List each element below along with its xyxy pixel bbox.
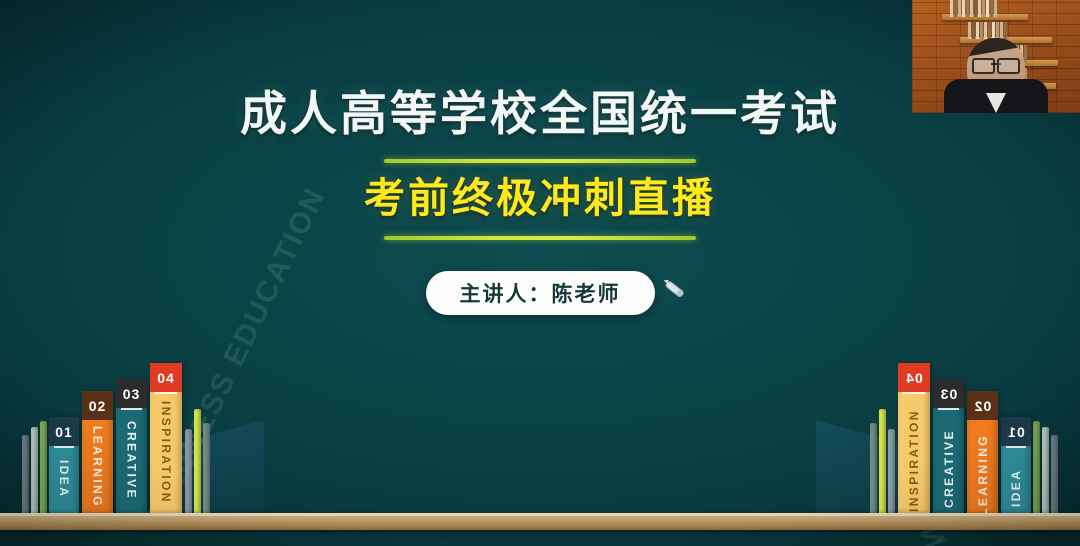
divider-bottom bbox=[384, 236, 696, 240]
thin-book bbox=[1033, 421, 1040, 513]
book-number: 04 bbox=[898, 363, 930, 392]
book-number: 04 bbox=[150, 363, 182, 392]
thin-book bbox=[888, 429, 895, 513]
book-number: 03 bbox=[933, 379, 964, 408]
book-idea: 01IDEA bbox=[1001, 417, 1031, 513]
person-collar bbox=[986, 93, 1006, 113]
shelf-highlight bbox=[0, 513, 1080, 516]
book-label: INSPIRATION bbox=[159, 400, 173, 513]
book-label: IDEA bbox=[1009, 454, 1023, 513]
thin-book bbox=[22, 435, 29, 513]
book-idea: 01IDEA bbox=[49, 417, 79, 513]
book-learning: 02LEARNING bbox=[967, 391, 998, 513]
book-label: IDEA bbox=[57, 454, 71, 513]
book-rule bbox=[1006, 446, 1026, 448]
book-label: CREATIVE bbox=[942, 416, 956, 513]
book-inspiration: 04INSPIRATION bbox=[898, 363, 930, 513]
livestream-slide: BUSINESS EDUCATION BUSINESS EDUCATION 成人… bbox=[0, 0, 1080, 546]
person-body bbox=[944, 79, 1048, 113]
wall-books-2 bbox=[968, 22, 1007, 39]
book-label: CREATIVE bbox=[125, 416, 139, 513]
thin-book bbox=[194, 409, 201, 513]
speaker-badge-row: 主讲人：陈老师 bbox=[0, 271, 1080, 315]
thin-book bbox=[203, 423, 210, 513]
book-stack-left: 01IDEA02LEARNING03CREATIVE04INSPIRATION bbox=[22, 363, 212, 513]
book-rule bbox=[54, 446, 74, 448]
book-number: 03 bbox=[116, 379, 147, 408]
book-creative: 03CREATIVE bbox=[116, 379, 147, 513]
book-label: LEARNING bbox=[976, 426, 990, 516]
speaker-badge: 主讲人：陈老师 bbox=[426, 271, 655, 315]
thin-book bbox=[40, 421, 47, 513]
wall-books-1 bbox=[950, 0, 997, 17]
book-rule bbox=[121, 408, 142, 410]
book-learning: 02LEARNING bbox=[82, 391, 113, 513]
book-rule bbox=[155, 392, 177, 394]
book-label: INSPIRATION bbox=[907, 400, 921, 513]
thin-book bbox=[31, 427, 38, 513]
thin-book bbox=[185, 429, 192, 513]
thin-book bbox=[879, 409, 886, 513]
book-rule bbox=[938, 408, 959, 410]
page-subtitle: 考前终极冲刺直播 bbox=[0, 176, 1080, 222]
thin-book bbox=[1051, 435, 1058, 513]
book-rule bbox=[903, 392, 925, 394]
thin-book bbox=[1042, 427, 1049, 513]
book-number: 02 bbox=[82, 391, 113, 420]
thin-book bbox=[870, 423, 877, 513]
pen-cursor-icon bbox=[660, 276, 690, 304]
book-creative: 03CREATIVE bbox=[933, 379, 964, 513]
book-number: 02 bbox=[967, 391, 998, 420]
book-number: 01 bbox=[49, 417, 79, 446]
book-number: 01 bbox=[1001, 417, 1031, 446]
book-label: LEARNING bbox=[91, 426, 105, 516]
webcam-overlay[interactable] bbox=[912, 0, 1080, 113]
book-stack-right: 01IDEA02LEARNING03CREATIVE04INSPIRATION bbox=[868, 363, 1058, 513]
divider-top bbox=[384, 159, 696, 163]
book-inspiration: 04INSPIRATION bbox=[150, 363, 182, 513]
glasses-icon bbox=[972, 58, 1020, 70]
